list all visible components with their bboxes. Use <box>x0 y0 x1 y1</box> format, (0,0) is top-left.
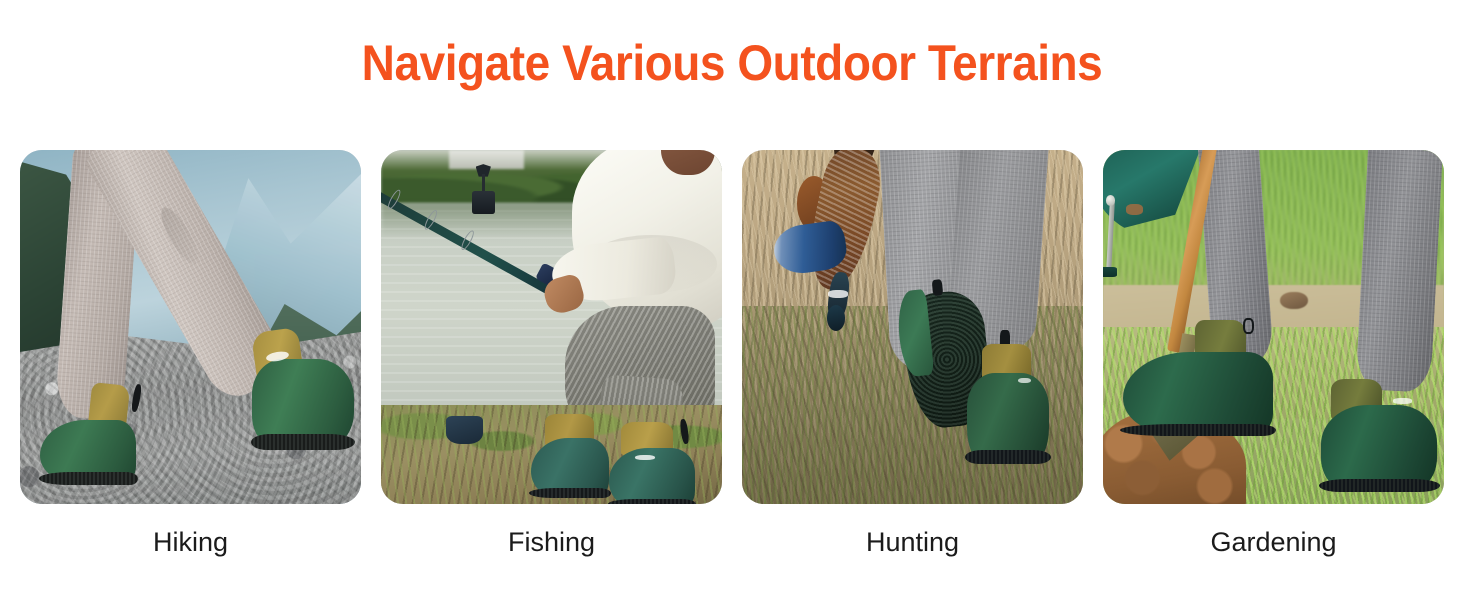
terrain-card-hiking[interactable]: Hiking <box>20 150 361 558</box>
brand-logo-icon <box>1018 378 1031 384</box>
brand-logo-icon <box>635 455 655 460</box>
boot-sole <box>529 488 611 498</box>
caption-hunting: Hunting <box>866 526 959 558</box>
fishing-photo[interactable] <box>381 150 722 504</box>
terrain-card-row: Hiking <box>20 150 1444 558</box>
boot-sole <box>1120 424 1276 436</box>
fishing-boot-left <box>531 419 609 497</box>
hiking-boot-front <box>252 334 354 447</box>
small-stone <box>1280 292 1307 310</box>
hunting-photo[interactable] <box>742 150 1083 504</box>
boot-upper <box>1321 405 1437 490</box>
gardening-photo[interactable] <box>1103 150 1444 504</box>
tackle-bag <box>446 416 484 444</box>
wheelbarrow-bolt <box>1106 195 1115 205</box>
lake-buoy <box>470 164 497 221</box>
pheasant <box>790 150 906 327</box>
caption-fishing: Fishing <box>508 526 595 558</box>
caption-gardening: Gardening <box>1210 526 1336 558</box>
caption-hiking: Hiking <box>153 526 228 558</box>
boot-sole <box>251 434 355 450</box>
rust-patch <box>1126 204 1142 214</box>
hiking-boot-back <box>40 398 135 483</box>
terrain-card-gardening[interactable]: Gardening <box>1103 150 1444 558</box>
gardening-boot-left <box>1123 334 1273 433</box>
terrain-card-hunting[interactable]: Hunting <box>742 150 1083 558</box>
hunting-boot-planted <box>967 348 1049 461</box>
pheasant-head <box>827 305 846 331</box>
boot-sole <box>965 450 1050 464</box>
boot-pull-tab-icon <box>932 278 943 295</box>
gardener-leg-right <box>1356 150 1444 393</box>
hiking-photo[interactable] <box>20 150 361 504</box>
boot-pull-tab-icon <box>1243 318 1254 334</box>
wheelbarrow-foot <box>1103 267 1117 277</box>
pheasant-neck-ring <box>828 290 848 297</box>
boot-sole <box>1319 479 1440 492</box>
terrain-card-fishing[interactable]: Fishing <box>381 150 722 558</box>
brand-logo-icon <box>1393 398 1412 403</box>
page-title: Navigate Various Outdoor Terrains <box>59 34 1406 92</box>
buoy-base <box>472 191 495 214</box>
gardening-boot-right <box>1321 384 1437 490</box>
boot-upper <box>1123 352 1273 433</box>
boot-sole <box>608 499 697 504</box>
outdoor-terrains-banner: Navigate Various Outdoor Terrains <box>0 0 1464 600</box>
boot-sole <box>39 472 138 486</box>
